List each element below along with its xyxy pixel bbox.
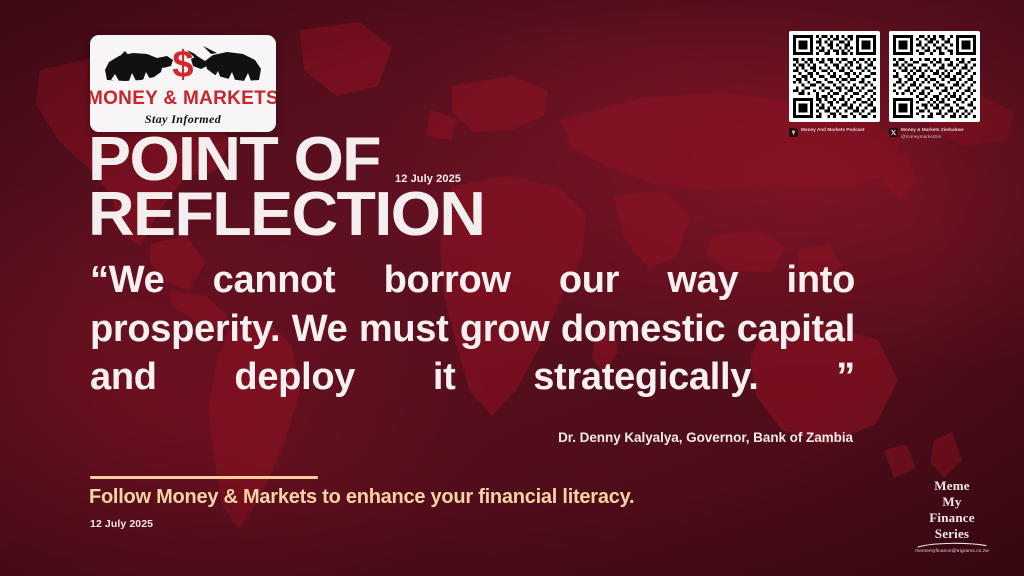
footer-call-to-action: Follow Money & Markets to enhance your f…	[89, 486, 634, 509]
headline-date: 12 July 2025	[395, 173, 461, 185]
series-line-1: Meme	[906, 478, 998, 494]
qr-title-twitter: Money & Markets Zimbabwe	[901, 127, 964, 132]
qr-handle-twitter: @moneymarketzim	[901, 134, 964, 141]
qr-caption-twitter: Money & Markets Zimbabwe @moneymarketzim	[889, 127, 980, 140]
logo-wordmark: MONEY & MARKETS	[90, 89, 276, 108]
bull-icon	[187, 46, 261, 81]
series-branding: Meme My Finance Series mememyfinance@tri…	[906, 478, 998, 554]
bear-bull-dollar-logo: $	[99, 44, 267, 88]
quote-text: “We cannot borrow our way into prosperit…	[90, 256, 855, 451]
qr-code-group: Money And Markets Podcast	[789, 31, 980, 140]
bear-icon	[105, 51, 173, 81]
quote-attribution: Dr. Denny Kalyalya, Governor, Bank of Za…	[90, 430, 853, 445]
swoosh-underline-icon	[916, 541, 988, 548]
x-twitter-icon	[889, 128, 898, 137]
qr-code-twitter[interactable]	[889, 31, 980, 122]
poster-canvas: $ MONEY & MARKETS Stay Informed	[0, 0, 1024, 576]
qr-code-podcast[interactable]	[789, 31, 880, 122]
series-email: mememyfinance@trigrams.co.zw	[906, 549, 998, 554]
series-line-2: My	[906, 494, 998, 510]
series-line-4: Series	[906, 526, 998, 542]
footer-accent-rule	[90, 476, 318, 479]
qr-item-twitter[interactable]: Money & Markets Zimbabwe @moneymarketzim	[889, 31, 980, 140]
qr-item-podcast[interactable]: Money And Markets Podcast	[789, 31, 880, 137]
footer-date: 12 July 2025	[90, 518, 153, 530]
series-line-3: Finance	[906, 510, 998, 526]
qr-title-podcast: Money And Markets Podcast	[801, 127, 865, 132]
dollar-sign-icon: $	[172, 44, 193, 86]
page-title: POINT OF REFLECTION 12 July 2025	[88, 134, 788, 241]
headline-line-2: REFLECTION	[88, 189, 816, 241]
svg-text:$: $	[172, 44, 193, 86]
brand-logo-card[interactable]: $ MONEY & MARKETS Stay Informed	[90, 35, 276, 132]
